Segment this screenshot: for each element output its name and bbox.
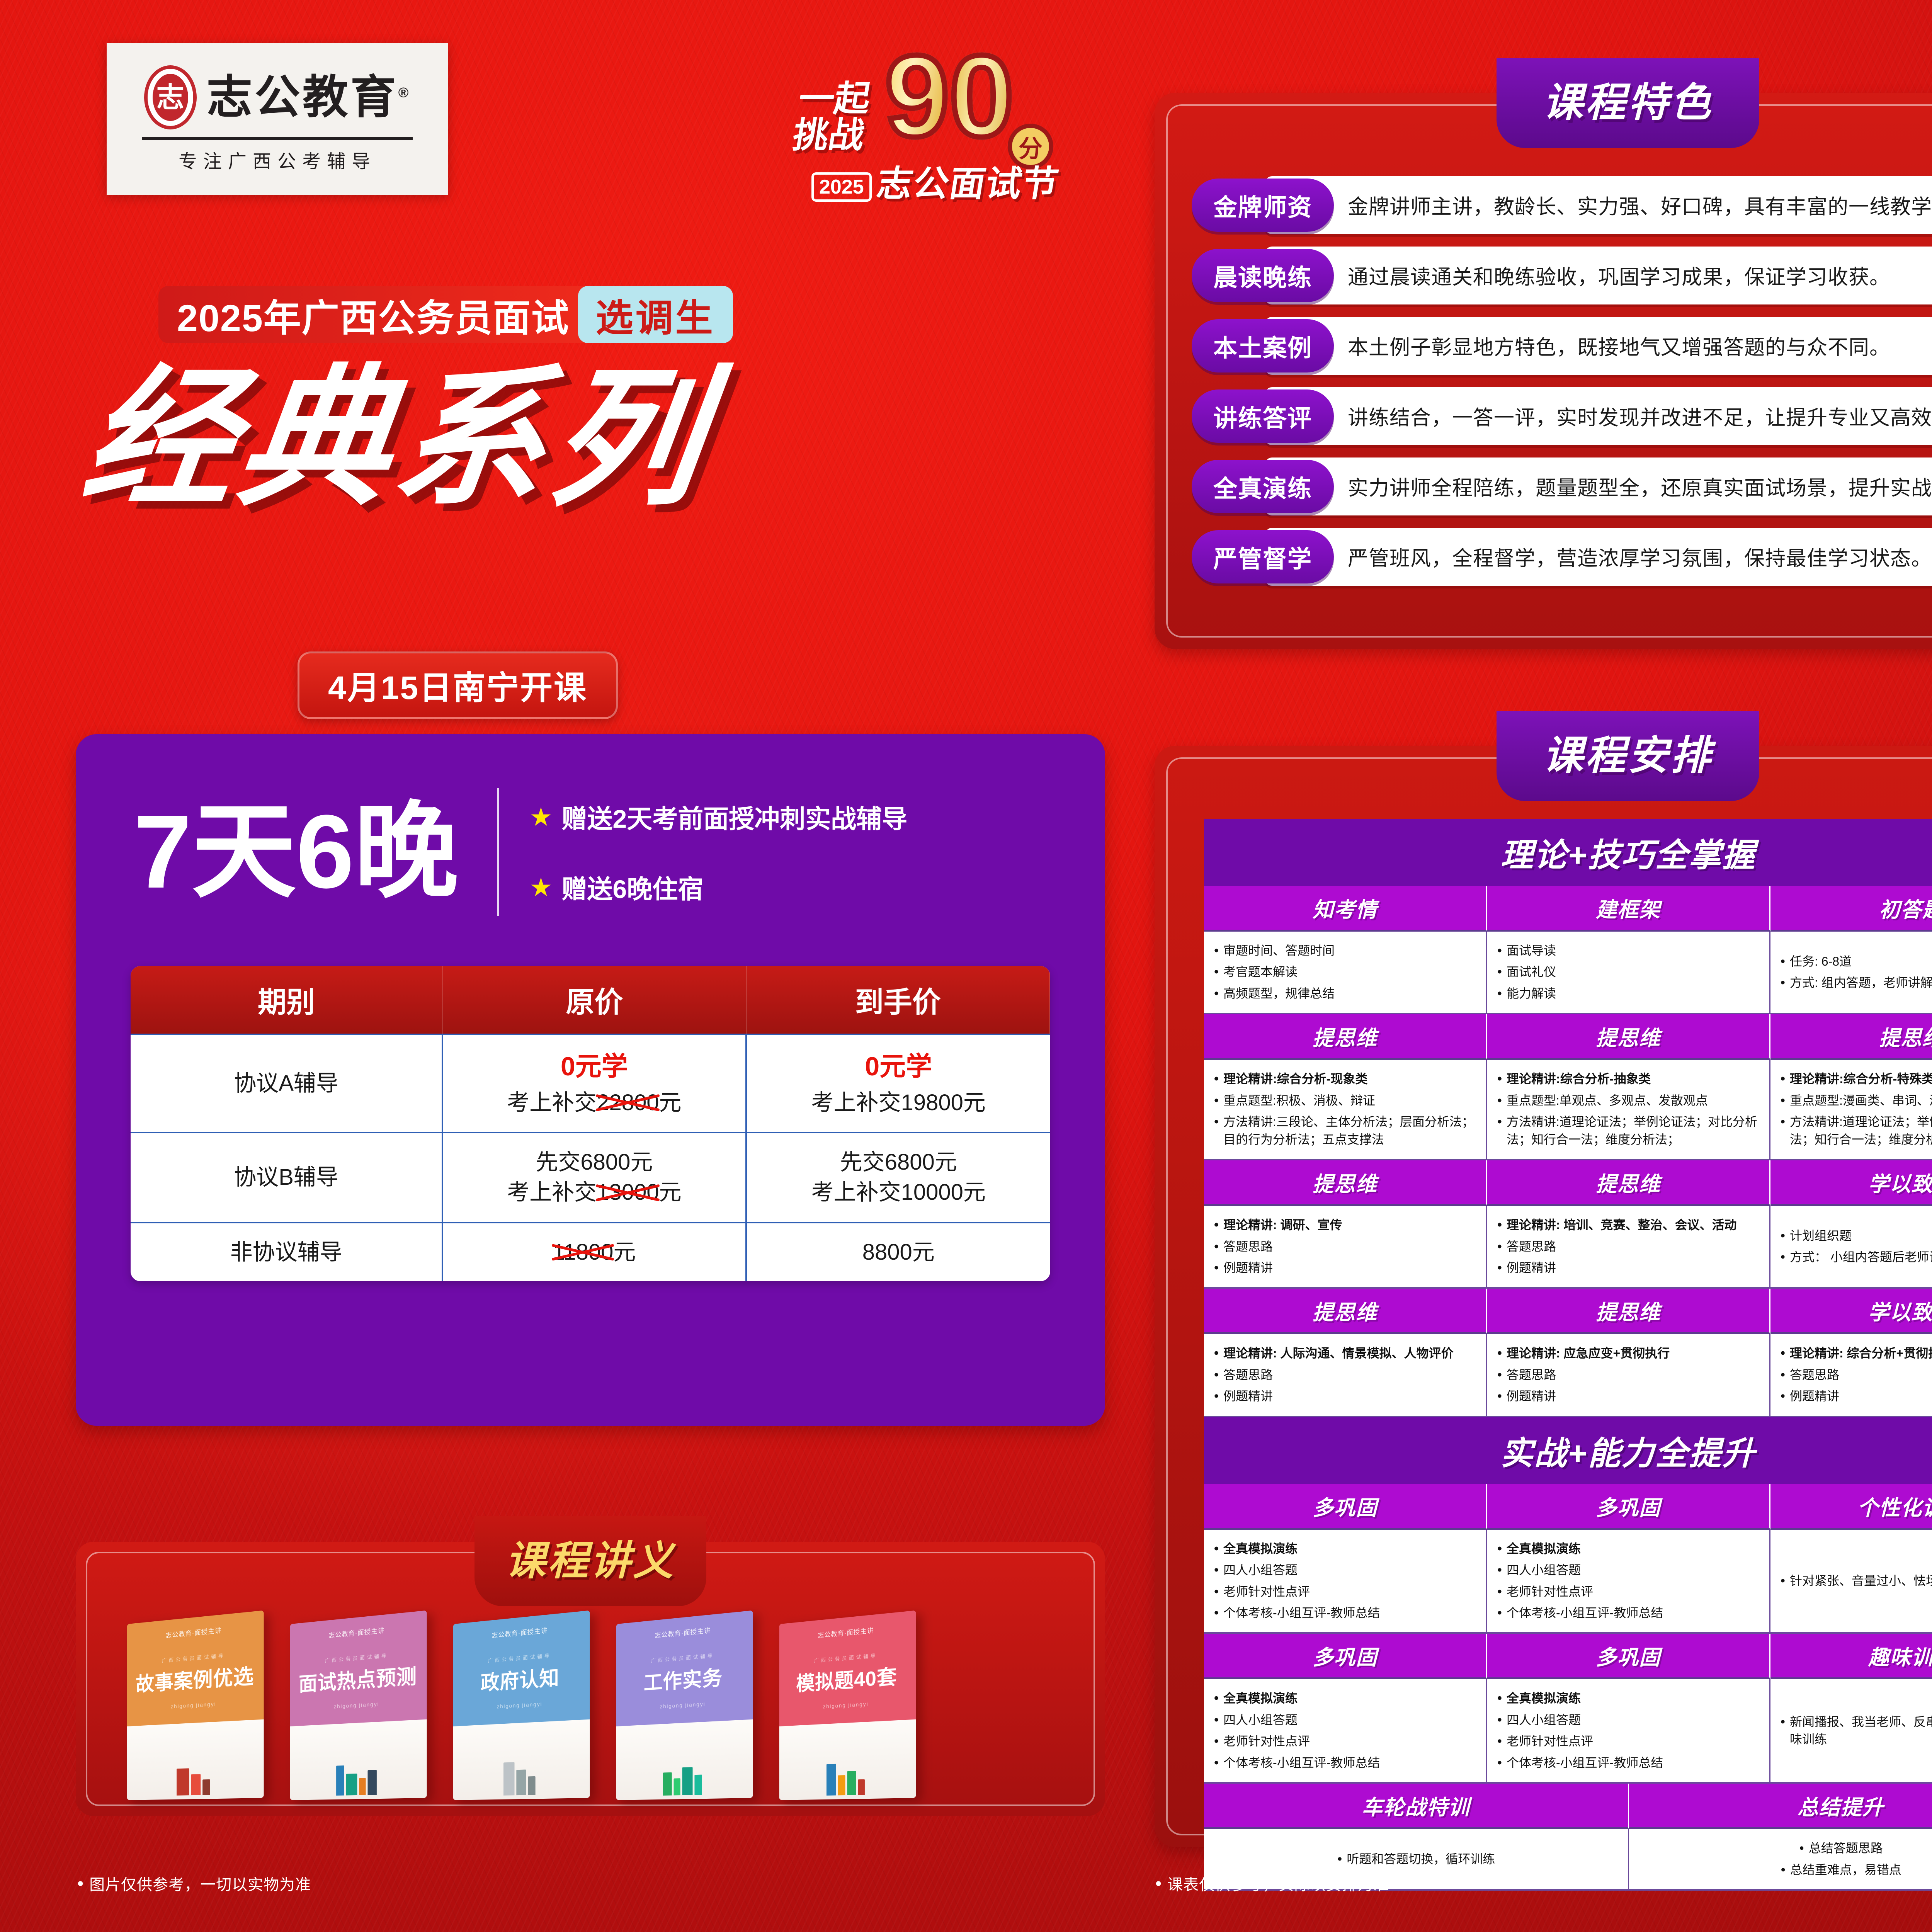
book-item: 志公教育·面授主讲广西公务员面试辅导政府认知zhigong jiangyi <box>453 1611 590 1800</box>
bonus-item: ★ 赠送6晚住宿 <box>529 869 907 906</box>
final-price: 先交6800元 考上补交10000元 <box>747 1133 1050 1222</box>
schedule-body-row: 理论精讲:综合分析-现象类重点题型:积极、消极、辩证方法精讲:三段论、主体分析法… <box>1204 1060 1932 1160</box>
feature-row: 本土例子彰显地方特色，既接地气又增强答题的与众不同。本土案例 <box>1192 317 1932 375</box>
book-brand: 志公教育·面授主讲 <box>492 1625 548 1640</box>
pricing-panel: 7天6晚 ★ 赠送2天考前面授冲刺实战辅导 ★ 赠送6晚住宿 期别 原价 到手价… <box>76 734 1105 1426</box>
schedule-bullet: 理论精讲: 培训、竞赛、整治、会议、活动 <box>1497 1216 1760 1234</box>
schedule-column-header: 知考情 <box>1204 886 1487 932</box>
book-footer: zhigong jiangyi <box>660 1701 706 1710</box>
schedule-bullet: 重点题型:单观点、多观点、发散观点 <box>1497 1092 1760 1109</box>
original-prepay: 先交6800元 <box>536 1147 653 1177</box>
feature-description: 本土例子彰显地方特色，既接地气又增强答题的与众不同。 <box>1348 331 1890 361</box>
schedule-bullet: 四人小组答题 <box>1213 1561 1477 1579</box>
schedule-bullet: 例题精讲 <box>1780 1388 1932 1405</box>
schedule-header-row: 多巩固多巩固个性化训练 <box>1204 1484 1932 1530</box>
schedule-bullet: 例题精讲 <box>1497 1388 1760 1405</box>
materials-title-ribbon: 课程讲义 <box>474 1516 706 1606</box>
book-title: 工作实务 <box>641 1667 726 1695</box>
schedule-column-header: 个性化训练 <box>1770 1484 1932 1530</box>
schedule-panel: 课程安排 理论+技巧全掌握知考情建框架初答题审题时间、答题时间考官题本解读高频题… <box>1155 746 1932 1847</box>
schedule-header-row: 多巩固多巩固趣味训练 <box>1204 1634 1932 1679</box>
book-illustration <box>177 1768 210 1796</box>
feature-description: 金牌讲师主讲，教龄长、实力强、好口碑，具有丰富的一线教学经验。 <box>1348 190 1932 220</box>
book-title: 面试热点预测 <box>296 1665 420 1696</box>
schedule-cell: 任务: 6-8道方式: 组内答题，老师讲解 <box>1770 932 1932 1013</box>
feature-description: 实力讲师全程陪练，题量题型全，还原真实面试场景，提升实战能力。 <box>1348 472 1932 501</box>
schedule-cell: 理论精讲: 综合分析+贯彻执行答题思路例题精讲 <box>1770 1334 1932 1415</box>
schedule-bullet: 答题思路 <box>1213 1366 1477 1384</box>
schedule-bullet: 总结重难点，易错点 <box>1780 1861 1901 1879</box>
original-price-line: 考上补交13000元 <box>507 1177 681 1207</box>
schedule-column-header: 提思维 <box>1204 1289 1487 1334</box>
page-title: 经典系列 <box>76 363 716 514</box>
schedule-bullet: 考官题本解读 <box>1213 963 1477 981</box>
schedule-cell: 全真模拟演练四人小组答题老师针对性点评个体考核-小组互评-教师总结 <box>1487 1679 1770 1782</box>
schedule-bullet: 理论精讲: 应急应变+贯彻执行 <box>1497 1345 1760 1362</box>
column-header-final: 到手价 <box>747 966 1050 1034</box>
schedule-bullet: 方法精讲:道理论证法；举例论证法；对比分析法；知行合一法；维度分析法； <box>1780 1113 1932 1148</box>
struck-amount: 13000 <box>597 1177 659 1207</box>
schedule-column-header: 车轮战特训 <box>1204 1784 1629 1829</box>
schedule-bullet: 老师针对性点评 <box>1497 1583 1760 1600</box>
schedule-bullet: 个体考核-小组互评-教师总结 <box>1497 1604 1760 1622</box>
schedule-bullet: 理论精讲: 人际沟通、情景模拟、人物评价 <box>1213 1345 1477 1362</box>
schedule-header-row: 车轮战特训总结提升 <box>1204 1784 1932 1829</box>
features-title-ribbon: 课程特色 <box>1497 58 1759 148</box>
struck-amount: 11800 <box>553 1237 613 1267</box>
tier-name: 非协议辅导 <box>131 1223 443 1281</box>
schedule-cell: 全真模拟演练四人小组答题老师针对性点评个体考核-小组互评-教师总结 <box>1487 1530 1770 1633</box>
bonus-list: ★ 赠送2天考前面授冲刺实战辅导 ★ 赠送6晚住宿 <box>529 798 907 906</box>
feature-description: 严管班风，全程督学，营造浓厚学习氛围，保持最佳学习状态。 <box>1348 542 1932 571</box>
schedule-bullet: 能力解读 <box>1497 985 1760 1002</box>
schedule-bullet: 答题思路 <box>1213 1238 1477 1255</box>
schedule-bullet: 方法精讲:三段论、主体分析法；层面分析法；目的行为分析法；五点支撑法 <box>1213 1113 1477 1148</box>
book-brand: 志公教育·面授主讲 <box>166 1625 222 1640</box>
schedule-column-header: 提思维 <box>1204 1014 1487 1060</box>
schedule-cell: 面试导读面试礼仪能力解读 <box>1487 932 1770 1013</box>
book-series: 广西公务员面试辅导 <box>162 1651 225 1664</box>
schedule-bullet: 重点题型:漫画类、串词、演讲等 <box>1780 1092 1932 1109</box>
schedule-cell: 理论精讲:综合分析-现象类重点题型:积极、消极、辩证方法精讲:三段论、主体分析法… <box>1204 1060 1487 1159</box>
book-item: 志公教育·面授主讲广西公务员面试辅导工作实务zhigong jiangyi <box>616 1611 753 1800</box>
book-series: 广西公务员面试辅导 <box>325 1651 388 1664</box>
schedule-bullet: 四人小组答题 <box>1213 1711 1477 1729</box>
bonus-item: ★ 赠送2天考前面授冲刺实战辅导 <box>529 798 907 835</box>
schedule-body-row: 审题时间、答题时间考官题本解读高频题型，规律总结面试导读面试礼仪能力解读任务: … <box>1204 932 1932 1014</box>
final-price-line: 考上补交10000元 <box>811 1177 986 1207</box>
book-title: 故事案例优选 <box>133 1665 257 1696</box>
schedule-bullet: 例题精讲 <box>1497 1259 1760 1277</box>
feature-row: 通过晨读通关和晚练验收，巩固学习成果，保证学习收获。晨读晚练 <box>1192 247 1932 304</box>
feature-tag: 本土案例 <box>1192 319 1334 372</box>
schedule-column-header: 学以致用 <box>1770 1289 1932 1334</box>
brand-tagline: 专注广西公考辅导 <box>179 146 376 173</box>
logo-divider <box>142 137 413 140</box>
schedule-bullet: 总结答题思路 <box>1799 1840 1883 1857</box>
features-list: 金牌讲师主讲，教龄长、实力强、好口碑，具有丰富的一线教学经验。金牌师资通过晨读通… <box>1192 176 1932 586</box>
schedule-cell: 理论精讲:综合分析-抽象类重点题型:单观点、多观点、发散观点方法精讲:道理论证法… <box>1487 1060 1770 1159</box>
struck-amount: 22800 <box>597 1088 659 1118</box>
star-icon: ★ <box>529 804 552 830</box>
schedule-cell: 针对紧张、音量过小、怯场等个性问题训练 <box>1770 1530 1932 1633</box>
schedule-column-header: 多巩固 <box>1204 1484 1487 1530</box>
schedule-bullet: 理论精讲: 调研、宣传 <box>1213 1216 1477 1234</box>
book-brand: 志公教育·面授主讲 <box>655 1625 711 1640</box>
schedule-cell: 新闻播报、我当老师、反串教学、绕口令等趣味训练 <box>1770 1679 1932 1782</box>
schedule-body-row: 全真模拟演练四人小组答题老师针对性点评个体考核-小组互评-教师总结全真模拟演练四… <box>1204 1679 1932 1784</box>
feature-card: 严管班风，全程督学，营造浓厚学习氛围，保持最佳学习状态。 <box>1265 528 1932 586</box>
schedule-cell: 总结答题思路总结重难点，易错点 <box>1629 1829 1932 1889</box>
score-number: 90 <box>885 38 1014 154</box>
bonus-label: 赠送6晚住宿 <box>562 869 704 906</box>
vertical-divider <box>497 788 499 916</box>
price-table: 期别 原价 到手价 协议A辅导 0元学 考上补交22800元 0元学 考上补交1… <box>131 966 1050 1281</box>
schedule-bullet: 老师针对性点评 <box>1497 1733 1760 1750</box>
schedule-column-header: 提思维 <box>1487 1160 1770 1206</box>
schedule-band: 理论+技巧全掌握 <box>1204 819 1932 886</box>
column-header-tier: 期别 <box>131 966 443 1034</box>
schedule-bullet: 例题精讲 <box>1213 1388 1477 1405</box>
schedule-column-header: 提思维 <box>1204 1160 1487 1206</box>
feature-tag: 金牌师资 <box>1192 179 1334 232</box>
schedule-bullet: 答题思路 <box>1497 1238 1760 1255</box>
schedule-title: 课程安排 <box>1497 723 1759 781</box>
schedule-column-header: 提思维 <box>1487 1014 1770 1060</box>
course-duration: 7天6晚 <box>134 800 458 904</box>
book-list: 志公教育·面授主讲广西公务员面试辅导故事案例优选zhigong jiangyi志… <box>122 1617 917 1799</box>
feature-row: 实力讲师全程陪练，题量题型全，还原真实面试场景，提升实战能力。全真演练 <box>1192 457 1932 515</box>
festival-row: 2025 志公面试节 <box>811 166 1059 202</box>
schedule-bullet: 老师针对性点评 <box>1213 1733 1477 1750</box>
feature-tag: 全真演练 <box>1192 460 1334 513</box>
schedule-bullet: 四人小组答题 <box>1497 1561 1760 1579</box>
schedule-cell: 全真模拟演练四人小组答题老师针对性点评个体考核-小组互评-教师总结 <box>1204 1679 1487 1782</box>
festival-name: 志公面试节 <box>874 166 1061 202</box>
schedule-bullet: 个体考核-小组互评-教师总结 <box>1213 1754 1477 1772</box>
table-row: 协议A辅导 0元学 考上补交22800元 0元学 考上补交19800元 <box>131 1034 1050 1132</box>
schedule-cell: 计划组织题方式： 小组内答题后老师讲解 <box>1770 1206 1932 1287</box>
book-footer: zhigong jiangyi <box>334 1701 379 1710</box>
feature-tag: 晨读晚练 <box>1192 249 1334 302</box>
schedule-bullet: 面试礼仪 <box>1497 963 1760 981</box>
schedule-bullet: 针对紧张、音量过小、怯场等个性问题训练 <box>1780 1572 1932 1590</box>
schedule-bullet: 面试导读 <box>1497 942 1760 959</box>
schedule-bullet: 方法精讲:道理论证法；举例论证法；对比分析法；知行合一法；维度分析法； <box>1497 1113 1760 1148</box>
star-icon: ★ <box>529 874 552 900</box>
feature-card: 通过晨读通关和晚练验收，巩固学习成果，保证学习收获。 <box>1265 247 1932 304</box>
feature-row: 金牌讲师主讲，教龄长、实力强、好口碑，具有丰富的一线教学经验。金牌师资 <box>1192 176 1932 234</box>
schedule-bullet: 新闻播报、我当老师、反串教学、绕口令等趣味训练 <box>1780 1713 1932 1748</box>
book-item: 志公教育·面授主讲广西公务员面试辅导模拟题40套zhigong jiangyi <box>779 1611 916 1800</box>
schedule-body-row: 全真模拟演练四人小组答题老师针对性点评个体考核-小组互评-教师总结全真模拟演练四… <box>1204 1530 1932 1634</box>
final-price: 0元学 考上补交19800元 <box>747 1035 1050 1132</box>
schedule-header-row: 提思维提思维学以致用 <box>1204 1289 1932 1334</box>
schedule-column-header: 多巩固 <box>1487 1634 1770 1679</box>
schedule-header-row: 提思维提思维学以致用 <box>1204 1160 1932 1206</box>
schedule-bullet: 个体考核-小组互评-教师总结 <box>1213 1604 1477 1622</box>
schedule-cell: 审题时间、答题时间考官题本解读高频题型，规律总结 <box>1204 932 1487 1013</box>
original-price: 0元学 考上补交22800元 <box>443 1035 747 1132</box>
original-price-line: 考上补交22800元 <box>507 1088 681 1118</box>
schedule-bullet: 答题思路 <box>1497 1366 1760 1384</box>
features-panel: 课程特色 金牌讲师主讲，教龄长、实力强、好口碑，具有丰富的一线教学经验。金牌师资… <box>1155 93 1932 649</box>
schedule-column-header: 多巩固 <box>1487 1484 1770 1530</box>
schedule-header-row: 知考情建框架初答题 <box>1204 886 1932 932</box>
note-schedule: 课表仅供参考，实际以安排为准 <box>1155 1872 1389 1895</box>
schedule-column-header: 趣味训练 <box>1770 1634 1932 1679</box>
schedule-bullet: 理论精讲:综合分析-特殊类、自我认知 <box>1780 1070 1932 1088</box>
feature-card: 本土例子彰显地方特色，既接地气又增强答题的与众不同。 <box>1265 317 1932 375</box>
festival-year: 2025 <box>811 172 872 202</box>
feature-description: 讲练结合，一答一评，实时发现并改进不足，让提升专业又高效。 <box>1348 401 1932 431</box>
final-price: 8800元 <box>747 1223 1050 1281</box>
schedule-bullet: 听题和答题切换，循环训练 <box>1337 1850 1495 1868</box>
book-illustration <box>336 1764 377 1796</box>
schedule-bullet: 答题思路 <box>1780 1366 1932 1384</box>
tier-name: 协议A辅导 <box>131 1035 443 1132</box>
schedule-bullet: 审题时间、答题时间 <box>1213 942 1477 959</box>
schedule-bullet: 例题精讲 <box>1213 1259 1477 1277</box>
schedule-bullet: 老师针对性点评 <box>1213 1583 1477 1600</box>
schedule-column-header: 提思维 <box>1487 1289 1770 1334</box>
registered-mark: ® <box>398 84 411 100</box>
book-illustration <box>663 1767 702 1795</box>
feature-description: 通过晨读通关和晚练验收，巩固学习成果，保证学习收获。 <box>1348 261 1890 290</box>
schedule-band: 实战+能力全提升 <box>1204 1417 1932 1484</box>
feature-card: 金牌讲师主讲，教龄长、实力强、好口碑，具有丰富的一线教学经验。 <box>1265 176 1932 234</box>
brand-logo: 志 志公教育® 专注广西公考辅导 <box>107 43 448 195</box>
brand-name: 志公教育® <box>207 75 411 120</box>
hero-tagline: 2025年广西公务员面试 选调生 <box>158 286 733 343</box>
schedule-cell: 理论精讲:综合分析-特殊类、自我认知重点题型:漫画类、串词、演讲等方法精讲:道理… <box>1770 1060 1932 1159</box>
book-footer: zhigong jiangyi <box>497 1701 543 1710</box>
feature-card: 讲练结合，一答一评，实时发现并改进不足，让提升专业又高效。 <box>1265 387 1932 445</box>
book-footer: zhigong jiangyi <box>171 1701 216 1710</box>
schedule-bullet: 个体考核-小组互评-教师总结 <box>1497 1754 1760 1772</box>
schedule-bullet: 全真模拟演练 <box>1497 1690 1760 1707</box>
schedule-bullet: 全真模拟演练 <box>1213 1540 1477 1558</box>
schedule-title-ribbon: 课程安排 <box>1497 711 1759 801</box>
schedule-body-row: 理论精讲: 人际沟通、情景模拟、人物评价答题思路例题精讲理论精讲: 应急应变+贯… <box>1204 1334 1932 1417</box>
final-price-line: 8800元 <box>862 1237 935 1267</box>
bonus-label: 赠送2天考前面授冲刺实战辅导 <box>562 798 908 835</box>
schedule-cell: 理论精讲: 培训、竞赛、整治、会议、活动答题思路例题精讲 <box>1487 1206 1770 1287</box>
start-date-badge: 4月15日南宁开课 <box>298 651 618 719</box>
book-series: 广西公务员面试辅导 <box>814 1651 878 1664</box>
schedule-bullet: 方式： 小组内答题后老师讲解 <box>1780 1248 1932 1266</box>
schedule-bullet: 高频题型，规律总结 <box>1213 985 1477 1002</box>
schedule-table: 理论+技巧全掌握知考情建框架初答题审题时间、答题时间考官题本解读高频题型，规律总… <box>1204 819 1932 1891</box>
schedule-bullet: 全真模拟演练 <box>1497 1540 1760 1558</box>
schedule-column-header: 总结提升 <box>1629 1784 1932 1829</box>
schedule-column-header: 学以致用 <box>1770 1160 1932 1206</box>
table-row: 协议B辅导 先交6800元 考上补交13000元 先交6800元 考上补交100… <box>131 1132 1050 1222</box>
feature-row: 严管班风，全程督学，营造浓厚学习氛围，保持最佳学习状态。严管督学 <box>1192 528 1932 586</box>
table-row: 非协议辅导 11800元 8800元 <box>131 1222 1050 1281</box>
original-price: 先交6800元 考上补交13000元 <box>443 1133 747 1222</box>
schedule-bullet: 全真模拟演练 <box>1213 1690 1477 1707</box>
schedule-body-row: 理论精讲: 调研、宣传答题思路例题精讲理论精讲: 培训、竞赛、整治、会议、活动答… <box>1204 1206 1932 1289</box>
schedule-column-header: 建框架 <box>1487 886 1770 932</box>
final-price-line: 考上补交19800元 <box>811 1088 986 1118</box>
tier-name: 协议B辅导 <box>131 1133 443 1222</box>
schedule-bullet: 任务: 6-8道 <box>1780 953 1932 970</box>
feature-tag: 讲练答评 <box>1192 389 1334 443</box>
logo-row: 志 志公教育® <box>144 65 411 129</box>
schedule-cell: 全真模拟演练四人小组答题老师针对性点评个体考核-小组互评-教师总结 <box>1204 1530 1487 1633</box>
schedule-bullet: 理论精讲:综合分析-现象类 <box>1213 1070 1477 1088</box>
schedule-column-header: 多巩固 <box>1204 1634 1487 1679</box>
feature-tag: 严管督学 <box>1192 530 1334 583</box>
schedule-header-row: 提思维提思维提思维 <box>1204 1014 1932 1060</box>
note-materials: 图片仅供参考，一切以实物为准 <box>77 1872 311 1895</box>
feature-row: 讲练结合，一答一评，实时发现并改进不足，让提升专业又高效。讲练答评 <box>1192 387 1932 445</box>
book-item: 志公教育·面授主讲广西公务员面试辅导故事案例优选zhigong jiangyi <box>127 1611 264 1800</box>
challenge-90-badge: 一起 挑战 90 分 2025 志公面试节 <box>796 27 1090 209</box>
book-title: 政府认知 <box>478 1667 563 1695</box>
hero-tagline-exam: 2025年广西公务员面试 <box>158 286 585 343</box>
zero-tuition-label: 0元学 <box>561 1049 628 1085</box>
book-brand: 志公教育·面授主讲 <box>329 1625 385 1640</box>
schedule-bullet: 理论精讲: 综合分析+贯彻执行 <box>1780 1345 1932 1362</box>
schedule-column-header: 初答题 <box>1770 886 1932 932</box>
hero-tagline-track: 选调生 <box>578 286 733 343</box>
seal-icon: 志 <box>144 65 197 129</box>
feature-card: 实力讲师全程陪练，题量题型全，还原真实面试场景，提升实战能力。 <box>1265 457 1932 515</box>
original-price-line: 11800元 <box>553 1237 636 1267</box>
book-brand: 志公教育·面授主讲 <box>818 1625 874 1640</box>
book-title: 模拟题40套 <box>793 1666 900 1696</box>
schedule-bullet: 计划组织题 <box>1780 1227 1932 1245</box>
book-footer: zhigong jiangyi <box>823 1701 869 1710</box>
seal-character: 志 <box>156 83 184 111</box>
score-unit: 分 <box>1008 124 1053 169</box>
features-title: 课程特色 <box>1497 70 1759 128</box>
schedule-cell: 理论精讲: 调研、宣传答题思路例题精讲 <box>1204 1206 1487 1287</box>
book-illustration <box>503 1762 536 1796</box>
materials-panel: 课程讲义 志公教育·面授主讲广西公务员面试辅导故事案例优选zhigong jia… <box>76 1542 1105 1816</box>
schedule-bullet: 方式: 组内答题，老师讲解 <box>1780 974 1932 992</box>
schedule-cell: 理论精讲: 应急应变+贯彻执行答题思路例题精讲 <box>1487 1334 1770 1415</box>
schedule-column-header: 提思维 <box>1770 1014 1932 1060</box>
original-price: 11800元 <box>443 1223 747 1281</box>
price-table-header: 期别 原价 到手价 <box>131 966 1050 1034</box>
schedule-bullet: 四人小组答题 <box>1497 1711 1760 1729</box>
schedule-cell: 理论精讲: 人际沟通、情景模拟、人物评价答题思路例题精讲 <box>1204 1334 1487 1415</box>
book-illustration <box>827 1763 865 1796</box>
book-series: 广西公务员面试辅导 <box>651 1651 714 1664</box>
zero-tuition-label: 0元学 <box>865 1049 932 1085</box>
book-item: 志公教育·面授主讲广西公务员面试辅导面试热点预测zhigong jiangyi <box>290 1611 427 1800</box>
final-prepay: 先交6800元 <box>840 1147 957 1177</box>
column-header-original: 原价 <box>443 966 747 1034</box>
schedule-bullet: 重点题型:积极、消极、辩证 <box>1213 1092 1477 1109</box>
duration-row: 7天6晚 ★ 赠送2天考前面授冲刺实战辅导 ★ 赠送6晚住宿 <box>76 769 1105 935</box>
materials-title: 课程讲义 <box>474 1528 706 1586</box>
schedule-bullet: 理论精讲:综合分析-抽象类 <box>1497 1070 1760 1088</box>
book-series: 广西公务员面试辅导 <box>488 1651 551 1664</box>
